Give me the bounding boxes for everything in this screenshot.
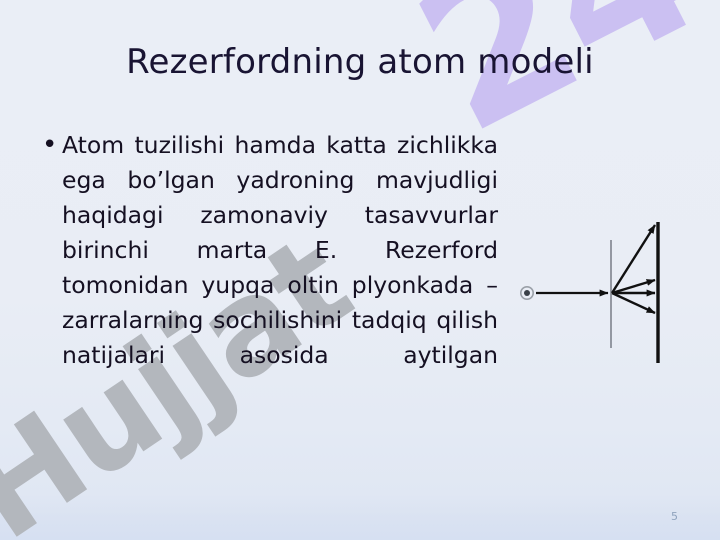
slide-title: Rezerfordning atom modeli (0, 42, 720, 82)
bullet-point-icon: • (36, 128, 62, 163)
alpha-source-icon (521, 287, 533, 299)
bullet-paragraph-text: Atom tuzilishi hamda katta zichlikka ega… (62, 128, 498, 408)
rutherford-scattering-diagram (505, 205, 690, 380)
slide-bottom-gradient-band (0, 494, 720, 540)
slide-page-number: 5 (671, 510, 678, 523)
scattered-ray-4 (612, 293, 655, 313)
body-content-block: • Atom tuzilishi hamda katta zichlikka e… (36, 128, 498, 408)
slide-canvas: 24 Hujjat Rezerfordning atom modeli • At… (0, 0, 720, 540)
bullet-list-item: • Atom tuzilishi hamda katta zichlikka e… (36, 128, 498, 408)
